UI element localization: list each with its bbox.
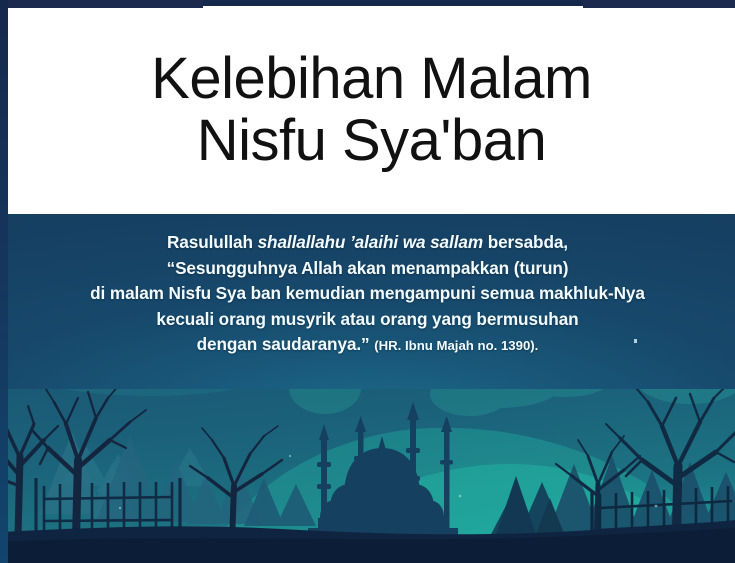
hadith-quote: Rasulullah shallallahu ’alaihi wa sallam…: [0, 230, 735, 359]
left-border-rail: [0, 0, 8, 563]
quote-line-1-post: bersabda,: [483, 232, 568, 252]
quote-line-2: “Sesungguhnya Allah akan menampakkan (tu…: [0, 256, 735, 282]
quote-line-1-italic: shallallahu ’alaihi wa sallam: [258, 232, 483, 252]
quote-line-5: dengan saudaranya.” (HR. Ibnu Majah no. …: [0, 332, 735, 359]
quote-line-5-main: dengan saudaranya.”: [197, 334, 375, 354]
quote-line-3: di malam Nisfu Sya ban kemudian mengampu…: [0, 281, 735, 307]
quote-line-1-pre: Rasulullah: [167, 232, 258, 252]
top-strip-right: [583, 0, 735, 8]
title-line-1: Kelebihan Malam: [151, 49, 592, 109]
quote-line-1: Rasulullah shallallahu ’alaihi wa sallam…: [0, 230, 735, 256]
title-line-2: Nisfu Sya'ban: [197, 111, 547, 171]
quote-line-4: kecuali orang musyrik atau orang yang be…: [0, 307, 735, 333]
title-banner: Kelebihan Malam Nisfu Sya'ban: [8, 6, 735, 214]
quote-source: (HR. Ibnu Majah no. 1390).: [374, 338, 538, 353]
quote-band: Rasulullah shallallahu ’alaihi wa sallam…: [0, 214, 735, 389]
poster-root: Kelebihan Malam Nisfu Sya'ban Rasulullah…: [0, 0, 735, 563]
decorative-speck: [634, 339, 637, 343]
top-strip-left: [7, 0, 203, 8]
